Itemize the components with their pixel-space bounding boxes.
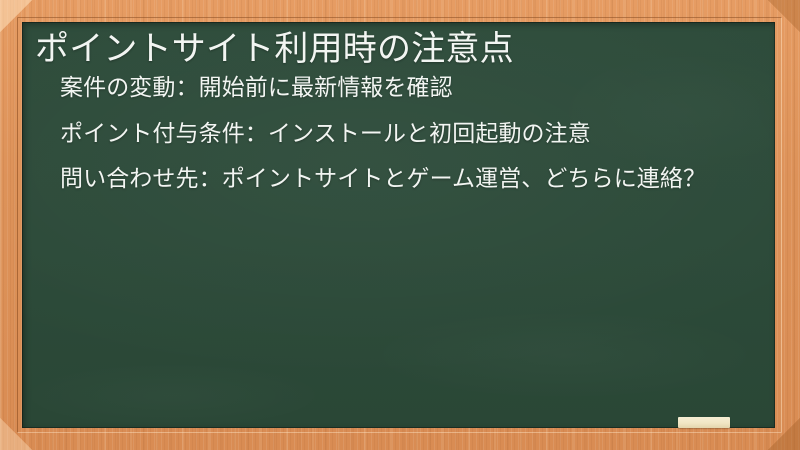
chalkboard-slide: ポイントサイト利用時の注意点 案件の変動：開始前に最新情報を確認 ポイント付与条… bbox=[0, 0, 800, 450]
chalk-stick-icon bbox=[678, 417, 730, 428]
bullet-list: 案件の変動：開始前に最新情報を確認 ポイント付与条件：インストールと初回起動の注… bbox=[32, 72, 749, 196]
page-title: ポイントサイト利用時の注意点 bbox=[35, 30, 749, 68]
list-item: 問い合わせ先：ポイントサイトとゲーム運営、どちらに連絡？ bbox=[60, 163, 749, 196]
list-item: ポイント付与条件：インストールと初回起動の注意 bbox=[60, 118, 749, 151]
slide-content: ポイントサイト利用時の注意点 案件の変動：開始前に最新情報を確認 ポイント付与条… bbox=[22, 22, 775, 428]
chalkboard-surface: ポイントサイト利用時の注意点 案件の変動：開始前に最新情報を確認 ポイント付与条… bbox=[22, 22, 775, 428]
list-item: 案件の変動：開始前に最新情報を確認 bbox=[60, 72, 749, 105]
